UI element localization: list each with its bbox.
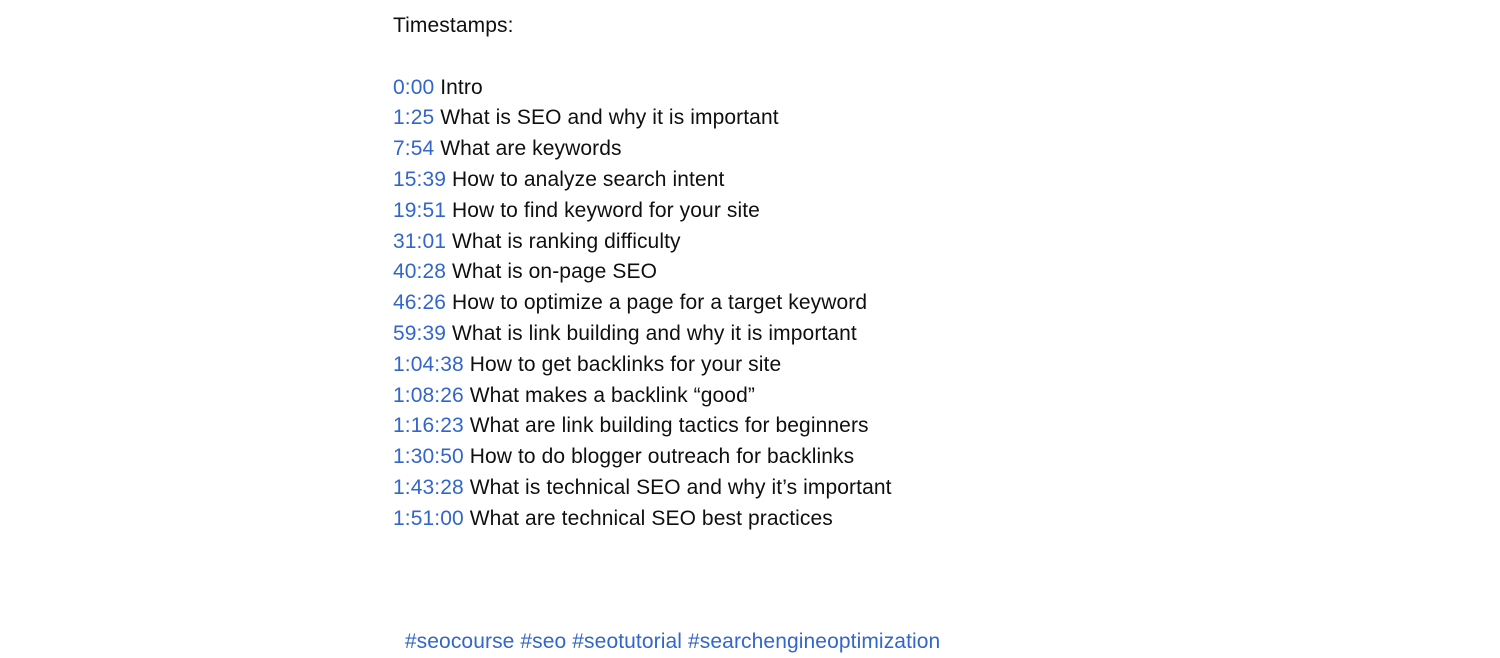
chapter-title: What makes a backlink “good” xyxy=(470,384,755,407)
chapter-title: What is technical SEO and why it’s impor… xyxy=(470,476,892,499)
hashtag-link[interactable]: #seotutorial xyxy=(572,630,682,653)
chapter-title: What are keywords xyxy=(440,137,621,160)
chapter-title: Intro xyxy=(440,76,483,99)
chapter-row: 1:25 What is SEO and why it is important xyxy=(393,103,1393,134)
chapter-timestamp-link[interactable]: 59:39 xyxy=(393,322,446,345)
hashtag-spacer xyxy=(393,535,1393,566)
chapter-title: What is ranking difficulty xyxy=(452,230,681,253)
chapter-timestamp-link[interactable]: 15:39 xyxy=(393,168,446,191)
chapter-title: How to analyze search intent xyxy=(452,168,724,191)
chapter-timestamp-link[interactable]: 1:43:28 xyxy=(393,476,464,499)
chapter-row: 19:51 How to find keyword for your site xyxy=(393,196,1393,227)
chapter-timestamp-link[interactable]: 1:25 xyxy=(393,106,434,129)
chapter-title: How to do blogger outreach for backlinks xyxy=(470,445,855,468)
chapter-row: 59:39 What is link building and why it i… xyxy=(393,319,1393,350)
chapter-title: What is link building and why it is impo… xyxy=(452,322,857,345)
chapter-timestamp-link[interactable]: 7:54 xyxy=(393,137,434,160)
chapter-timestamp-link[interactable]: 40:28 xyxy=(393,260,446,283)
chapter-row: 7:54 What are keywords xyxy=(393,134,1393,165)
chapter-timestamp-link[interactable]: 1:04:38 xyxy=(393,353,464,376)
timestamps-heading: Timestamps: xyxy=(393,0,1393,42)
chapter-row: 1:43:28 What is technical SEO and why it… xyxy=(393,473,1393,504)
chapter-title: How to optimize a page for a target keyw… xyxy=(452,291,867,314)
chapter-title: What are technical SEO best practices xyxy=(470,507,833,530)
chapter-row: 40:28 What is on-page SEO xyxy=(393,257,1393,288)
chapter-timestamp-list: 0:00 Intro1:25 What is SEO and why it is… xyxy=(393,73,1393,535)
chapter-row: 1:30:50 How to do blogger outreach for b… xyxy=(393,442,1393,473)
video-description-panel: Timestamps: 0:00 Intro1:25 What is SEO a… xyxy=(393,0,1393,658)
chapter-timestamp-link[interactable]: 1:16:23 xyxy=(393,414,464,437)
hashtag-line: #seocourse #seo #seotutorial #searchengi… xyxy=(393,565,1393,657)
chapter-title: What are link building tactics for begin… xyxy=(470,414,869,437)
chapter-timestamp-link[interactable]: 1:30:50 xyxy=(393,445,464,468)
chapter-timestamp-link[interactable]: 1:51:00 xyxy=(393,507,464,530)
chapter-row: 31:01 What is ranking difficulty xyxy=(393,227,1393,258)
chapter-title: How to get backlinks for your site xyxy=(470,353,782,376)
chapter-row: 0:00 Intro xyxy=(393,73,1393,104)
chapter-row: 1:51:00 What are technical SEO best prac… xyxy=(393,504,1393,535)
chapter-timestamp-link[interactable]: 46:26 xyxy=(393,291,446,314)
chapter-row: 15:39 How to analyze search intent xyxy=(393,165,1393,196)
hashtag-link[interactable]: #seo xyxy=(520,630,566,653)
chapter-title: What is SEO and why it is important xyxy=(440,106,778,129)
chapter-timestamp-link[interactable]: 19:51 xyxy=(393,199,446,222)
hashtag-link[interactable]: #searchengineoptimization xyxy=(688,630,940,653)
chapter-row: 1:04:38 How to get backlinks for your si… xyxy=(393,350,1393,381)
hashtag-link[interactable]: #seocourse xyxy=(405,630,515,653)
chapter-row: 1:08:26 What makes a backlink “good” xyxy=(393,381,1393,412)
chapter-title: How to find keyword for your site xyxy=(452,199,760,222)
chapter-row: 1:16:23 What are link building tactics f… xyxy=(393,411,1393,442)
chapter-timestamp-link[interactable]: 1:08:26 xyxy=(393,384,464,407)
chapter-title: What is on-page SEO xyxy=(452,260,657,283)
chapter-timestamp-link[interactable]: 31:01 xyxy=(393,230,446,253)
chapter-row: 46:26 How to optimize a page for a targe… xyxy=(393,288,1393,319)
heading-spacer xyxy=(393,42,1393,73)
chapter-timestamp-link[interactable]: 0:00 xyxy=(393,76,434,99)
